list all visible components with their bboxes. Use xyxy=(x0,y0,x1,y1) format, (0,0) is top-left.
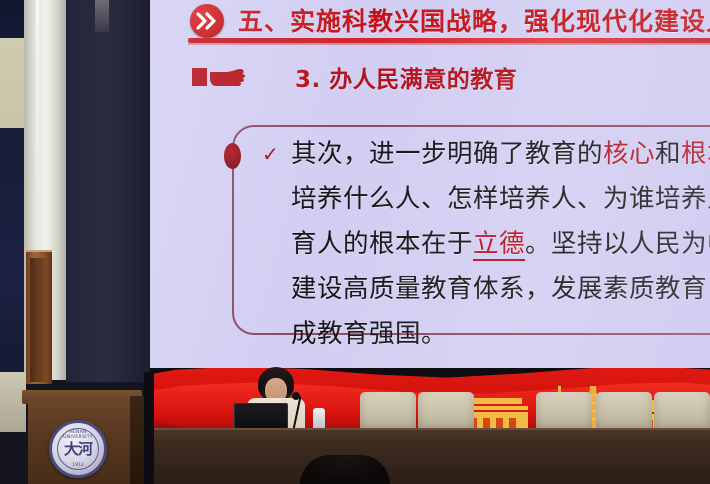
screenshot-stage: 五、实施科教兴国战略，强化现代化建设人才 3. 办人民满意的教育 ✓ 其次，进一… xyxy=(0,0,710,484)
body-text-line: 培养什么人、怎样培养人、为谁培养人 xyxy=(291,177,710,222)
podium-side xyxy=(130,396,144,484)
frame-accent-dot xyxy=(224,143,241,169)
emblem-top-text: HENAN UNIVERSITY xyxy=(58,430,98,440)
body-text-line: 其次，进一步明确了教育的核心和根本 xyxy=(291,132,710,177)
slide-subtitle: 3. 办人民满意的教育 xyxy=(295,60,517,94)
pointing-hand-icon xyxy=(192,62,248,92)
slide-title: 五、实施科教兴国战略，强化现代化建设人才 xyxy=(238,2,710,38)
projection-slide: 五、实施科教兴国战略，强化现代化建设人才 3. 办人民满意的教育 ✓ 其次，进一… xyxy=(150,0,710,372)
emblem-year: 1912 xyxy=(58,463,98,468)
ceiling-strip xyxy=(95,0,109,32)
audience-silhouette xyxy=(300,455,390,484)
body-text-segment: 和 xyxy=(655,139,681,169)
microphone-head xyxy=(292,392,300,400)
wall-dark-panel xyxy=(66,0,150,382)
body-text-segment: 成教育强国。 xyxy=(291,319,447,349)
double-chevron-icon xyxy=(190,4,224,38)
screen-side-edge xyxy=(144,372,154,484)
body-text-line: 成教育强国。 xyxy=(291,312,710,357)
body-text-segment: 立德 xyxy=(473,229,525,261)
checkmark-icon: ✓ xyxy=(262,144,279,164)
body-text-segment: 育人的根本在于 xyxy=(291,229,473,259)
body-text-line: 育人的根本在于立德。坚持以人民为中 xyxy=(291,222,710,267)
university-emblem: HENAN UNIVERSITY 大河 1912 xyxy=(49,420,107,478)
body-text-line: 建设高质量教育体系，发展素质教育， xyxy=(291,267,710,312)
emblem-glyph: 大河 xyxy=(64,442,92,457)
body-text-segment: 建设高质量教育体系，发展素质教育， xyxy=(291,274,710,304)
body-text-segment: 其次，进一步明确了教育的 xyxy=(291,139,603,169)
slide-body-text: 其次，进一步明确了教育的核心和根本培养什么人、怎样培养人、为谁培养人育人的根本在… xyxy=(291,132,710,357)
body-text-segment: 培养什么人、怎样培养人、为谁培养人 xyxy=(291,184,710,214)
body-text-segment: 根本 xyxy=(681,139,710,169)
body-text-segment: 核心 xyxy=(603,139,655,169)
curtain-left xyxy=(0,128,26,380)
body-text-segment: 。坚持以人民为中 xyxy=(525,229,710,259)
emblem-inner-ring: HENAN UNIVERSITY 大河 1912 xyxy=(57,428,99,470)
title-underline-shadow xyxy=(188,43,710,45)
door-inner-panel xyxy=(30,258,46,382)
